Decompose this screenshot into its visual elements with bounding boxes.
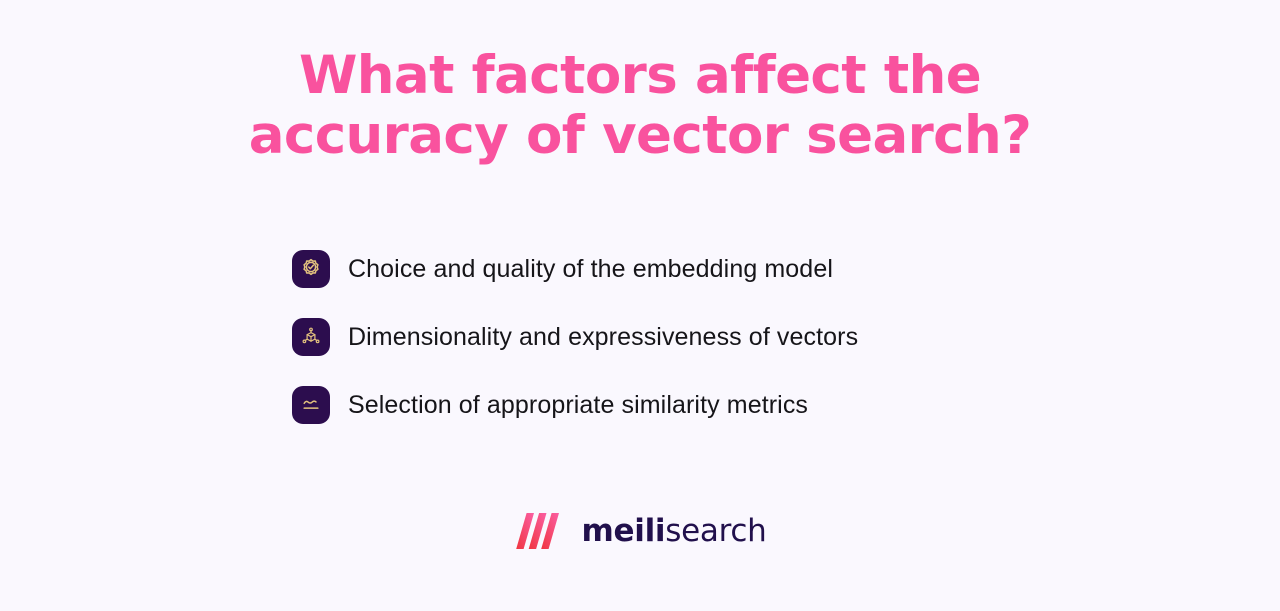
approximately-equal-icon — [292, 386, 330, 424]
cube-nodes-icon — [292, 318, 330, 356]
list-item-label: Choice and quality of the embedding mode… — [348, 254, 833, 284]
title-line-1: What factors affect the — [160, 46, 1120, 106]
logo-word-search: search — [665, 512, 766, 550]
logo-wordmark: meilisearch — [582, 512, 767, 550]
list-item-label: Selection of appropriate similarity metr… — [348, 390, 808, 420]
slide-canvas: What factors affect the accuracy of vect… — [0, 0, 1280, 611]
page-title: What factors affect the accuracy of vect… — [0, 46, 1280, 166]
meilisearch-logo-mark — [514, 512, 566, 550]
meilisearch-logo: meilisearch — [0, 512, 1280, 550]
title-line-2: accuracy of vector search? — [160, 106, 1120, 166]
logo-word-meili: meili — [582, 512, 666, 550]
list-item: Selection of appropriate similarity metr… — [292, 386, 1280, 424]
list-item: Dimensionality and expressiveness of vec… — [292, 318, 1280, 356]
badge-check-icon — [292, 250, 330, 288]
list-item: Choice and quality of the embedding mode… — [292, 250, 1280, 288]
list-item-label: Dimensionality and expressiveness of vec… — [348, 322, 858, 352]
factors-list: Choice and quality of the embedding mode… — [0, 250, 1280, 424]
